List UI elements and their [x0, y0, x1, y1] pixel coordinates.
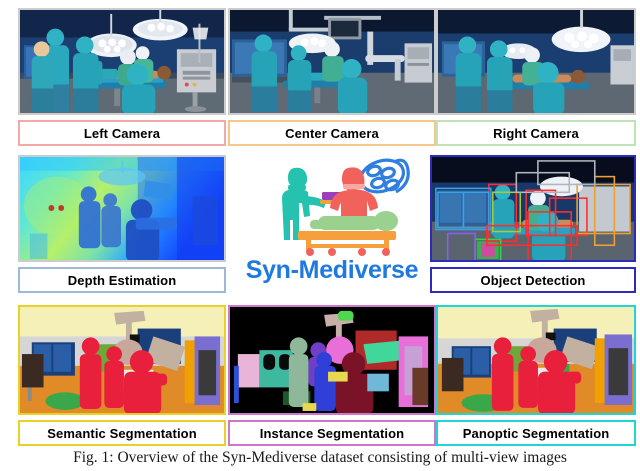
panel-cell-semantic-segmentation: Semantic Segmentation	[18, 305, 226, 447]
image-panel-left-camera	[18, 8, 226, 115]
caption-box-left-camera: Left Camera	[18, 120, 226, 146]
panel-label-center-camera: Center Camera	[285, 126, 379, 141]
caption-box-center-camera: Center Camera	[228, 120, 436, 146]
panel-cell-panoptic-segmentation: Panoptic Segmentation	[436, 305, 640, 447]
semantic-segmentation-mask	[20, 307, 224, 415]
image-panel-object-detection	[430, 155, 636, 262]
panel-cell-center-camera: Center Camera	[228, 8, 436, 146]
panoptic-segmentation-mask	[438, 307, 634, 415]
panel-label-instance-segmentation: Instance Segmentation	[260, 426, 404, 441]
depth-map-visualization	[20, 157, 224, 262]
panel-label-semantic-segmentation: Semantic Segmentation	[47, 426, 196, 441]
caption-box-panoptic-segmentation: Panoptic Segmentation	[436, 420, 636, 446]
caption-box-instance-segmentation: Instance Segmentation	[228, 420, 436, 446]
caption-box-semantic-segmentation: Semantic Segmentation	[18, 420, 226, 446]
surgery-scene-logo-icon	[236, 152, 428, 256]
caption-box-right-camera: Right Camera	[436, 120, 636, 146]
operating-room-rgb-center	[230, 10, 434, 115]
image-panel-center-camera	[228, 8, 436, 115]
panel-cell-instance-segmentation: Instance Segmentation	[228, 305, 436, 447]
panel-label-depth-estimation: Depth Estimation	[68, 273, 177, 288]
panel-cell-right-camera: Right Camera	[436, 8, 640, 146]
caption-box-depth-estimation: Depth Estimation	[18, 267, 226, 293]
figure-root: Left Camera	[0, 0, 640, 471]
panel-grid: Left Camera	[0, 0, 640, 449]
object-detection-boxes	[432, 157, 634, 262]
operating-room-rgb-left	[20, 10, 224, 115]
panel-label-right-camera: Right Camera	[493, 126, 579, 141]
panel-cell-object-detection: Object Detection	[430, 155, 640, 293]
operating-room-rgb-right	[438, 10, 634, 115]
brand-logo-block: Syn-Mediverse	[236, 152, 428, 294]
image-panel-right-camera	[436, 8, 636, 115]
image-panel-semantic-segmentation	[18, 305, 226, 415]
image-panel-panoptic-segmentation	[436, 305, 636, 415]
image-panel-depth-estimation	[18, 155, 226, 262]
logo-wordmark: Syn-Mediverse	[236, 256, 428, 285]
panel-cell-depth-estimation: Depth Estimation	[18, 155, 226, 293]
panel-cell-left-camera: Left Camera	[18, 8, 226, 146]
panel-label-object-detection: Object Detection	[481, 273, 586, 288]
panel-label-left-camera: Left Camera	[84, 126, 160, 141]
caption-box-object-detection: Object Detection	[430, 267, 636, 293]
instance-segmentation-mask	[230, 307, 434, 415]
image-panel-instance-segmentation	[228, 305, 436, 415]
figure-caption: Fig. 1: Overview of the Syn-Mediverse da…	[0, 449, 640, 467]
panel-label-panoptic-segmentation: Panoptic Segmentation	[463, 426, 610, 441]
